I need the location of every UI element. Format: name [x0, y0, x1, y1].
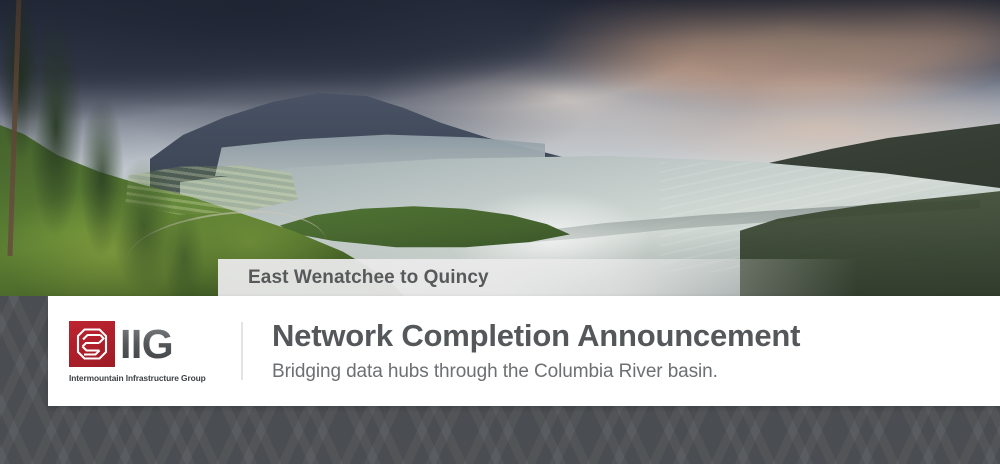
page-subtitle: Bridging data hubs through the Columbia …	[272, 361, 800, 383]
eyebrow-label: East Wenatchee to Quincy	[248, 267, 489, 289]
page-title: Network Completion Announcement	[272, 319, 800, 353]
logo-wordmark: IIG	[120, 324, 173, 365]
announcement-card: IIG Intermountain Infrastructure Group N…	[48, 296, 1000, 406]
logo-divider	[241, 322, 243, 380]
logo-row: IIG	[69, 319, 173, 369]
banner-root: East Wenatchee to Quincy	[0, 0, 1000, 464]
hero-photo	[0, 0, 1000, 296]
logo-company-name: Intermountain Infrastructure Group	[69, 373, 206, 383]
hexagon-weave-icon	[69, 321, 115, 367]
logo-lockup: IIG Intermountain Infrastructure Group	[69, 319, 232, 383]
card-text-block: Network Completion Announcement Bridging…	[272, 319, 800, 382]
photo-tone-overlay	[0, 0, 1000, 296]
eyebrow-band: East Wenatchee to Quincy	[218, 259, 858, 297]
